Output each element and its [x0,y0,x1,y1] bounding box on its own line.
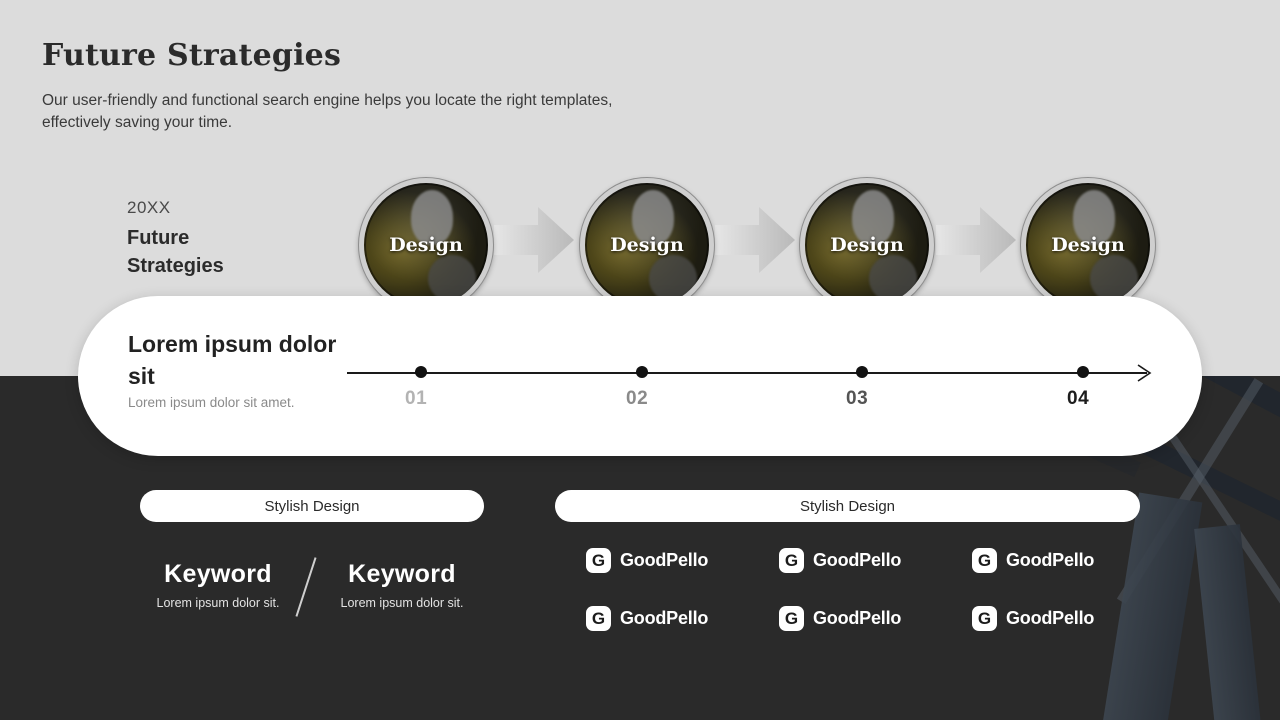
timeline-node-4[interactable]: Design [1021,178,1155,312]
goodpello-g-icon: G [586,548,611,573]
timeline-node-1[interactable]: Design [359,178,493,312]
keyword-block-1: Keyword Lorem ipsum dolor sit. [140,560,296,610]
chevron-arrow-icon [494,205,574,275]
goodpello-logo-1[interactable]: G GoodPello [586,548,708,573]
axis-dot-1 [415,366,427,378]
goodpello-g-icon: G [972,548,997,573]
axis-number-2: 02 [626,388,648,410]
goodpello-logo-6[interactable]: G GoodPello [972,606,1094,631]
chevron-arrow-icon [715,205,795,275]
goodpello-logo-text: GoodPello [620,550,708,571]
node-label: Design [364,183,488,307]
chevron-arrow-icon [936,205,1016,275]
goodpello-logo-text: GoodPello [1006,608,1094,629]
stylish-design-pill-right[interactable]: Stylish Design [555,490,1140,522]
axis-dot-3 [856,366,868,378]
card-title: Lorem ipsum dolor sit [128,328,358,392]
goodpello-logo-4[interactable]: G GoodPello [586,606,708,631]
node-label: Design [805,183,929,307]
stylish-design-pill-left[interactable]: Stylish Design [140,490,484,522]
axis-dot-4 [1077,366,1089,378]
node-label: Design [585,183,709,307]
slide-canvas: Future Strategies Our user-friendly and … [0,0,1280,720]
timeline-axis [347,372,1147,374]
timeline-node-3[interactable]: Design [800,178,934,312]
goodpello-logo-text: GoodPello [1006,550,1094,571]
goodpello-g-icon: G [586,606,611,631]
axis-number-3: 03 [846,388,868,410]
timeline-axis-arrow-icon [1136,363,1156,388]
keyword-title: Keyword [140,560,296,589]
axis-number-1: 01 [405,388,427,410]
goodpello-logo-text: GoodPello [813,550,901,571]
node-label: Design [1026,183,1150,307]
timeline-heading: Future Strategies [127,224,277,280]
page-subtitle: Our user-friendly and functional search … [42,90,662,134]
axis-number-4: 04 [1067,388,1089,410]
keyword-desc: Lorem ipsum dolor sit. [324,596,480,610]
axis-dot-2 [636,366,648,378]
timeline-year: 20XX [127,198,171,218]
goodpello-logo-text: GoodPello [620,608,708,629]
keyword-desc: Lorem ipsum dolor sit. [140,596,296,610]
goodpello-logo-3[interactable]: G GoodPello [972,548,1094,573]
timeline-node-2[interactable]: Design [580,178,714,312]
goodpello-g-icon: G [972,606,997,631]
card-subtitle: Lorem ipsum dolor sit amet. [128,395,295,410]
keyword-title: Keyword [324,560,480,589]
goodpello-logo-5[interactable]: G GoodPello [779,606,901,631]
page-title: Future Strategies [42,38,341,73]
goodpello-g-icon: G [779,548,804,573]
goodpello-logo-text: GoodPello [813,608,901,629]
goodpello-logo-2[interactable]: G GoodPello [779,548,901,573]
keyword-block-2: Keyword Lorem ipsum dolor sit. [324,560,480,610]
goodpello-g-icon: G [779,606,804,631]
